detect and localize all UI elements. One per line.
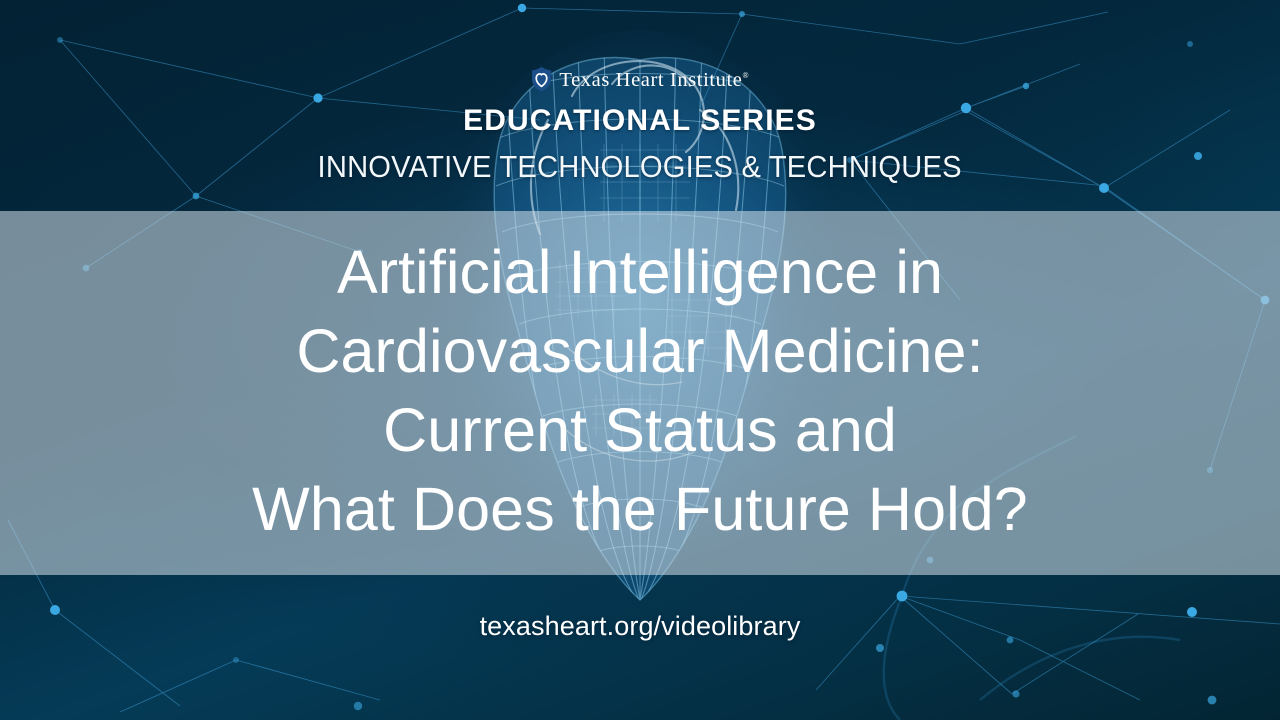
series-label: EDUCATIONAL SERIES xyxy=(463,106,817,136)
slide-footer: texasheart.org/videolibrary xyxy=(0,575,1280,720)
shield-heart-icon xyxy=(531,66,552,92)
slide-header: Texas Heart Institute® EDUCATIONAL SERIE… xyxy=(0,0,1280,211)
title-line-1: Artificial Intelligence in xyxy=(0,233,1280,312)
brand-wordmark: Texas Heart Institute® xyxy=(559,70,748,91)
title-band: Artificial Intelligence in Cardiovascula… xyxy=(0,211,1280,575)
title-slide: Texas Heart Institute® EDUCATIONAL SERIE… xyxy=(0,0,1280,720)
title-line-4: What Does the Future Hold? xyxy=(0,470,1280,549)
title-line-2: Cardiovascular Medicine: xyxy=(0,312,1280,391)
registered-mark: ® xyxy=(743,71,749,80)
brand-wordmark-text: Texas Heart Institute xyxy=(559,69,742,91)
page-title: Artificial Intelligence in Cardiovascula… xyxy=(0,233,1280,553)
title-line-3: Current Status and xyxy=(0,391,1280,470)
brand-logo: Texas Heart Institute® xyxy=(531,66,748,92)
site-url[interactable]: texasheart.org/videolibrary xyxy=(480,611,801,642)
series-subtitle: INNOVATIVE TECHNOLOGIES & TECHNIQUES xyxy=(318,151,962,182)
